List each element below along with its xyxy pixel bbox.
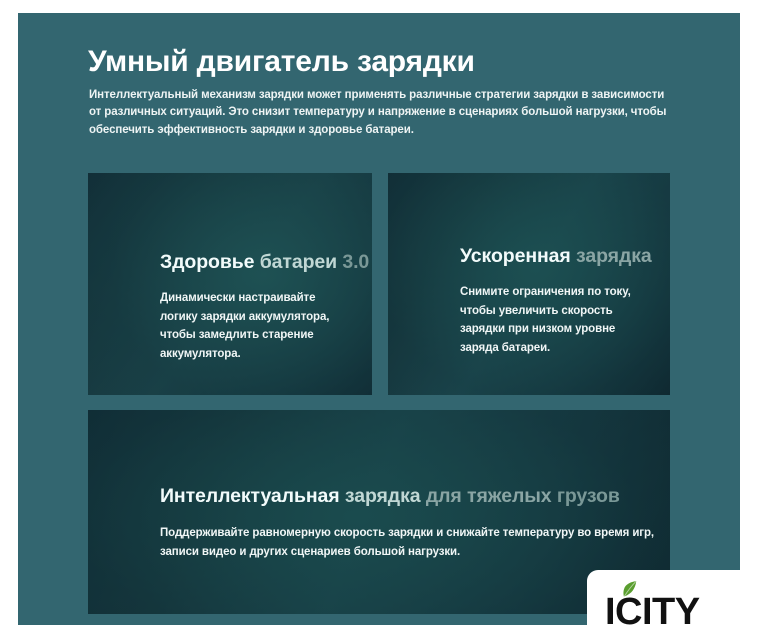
card-title-segment: Здоровье xyxy=(160,251,254,273)
feature-card-fast-charge: Ускоренная зарядка Снимите ограничения п… xyxy=(388,173,670,395)
promo-section: Умный двигатель зарядки Интеллектуальный… xyxy=(18,13,740,625)
card-title-battery-health: Здоровье батареи 3.0 xyxy=(160,251,369,274)
card-title-segment: Ускоренная xyxy=(460,245,571,267)
card-title-segment: зарядка xyxy=(345,485,421,507)
section-description: Интеллектуальный механизм зарядки может … xyxy=(89,87,675,140)
card-title-segment: Интеллектуальная xyxy=(160,485,340,507)
section-inner: Умный двигатель зарядки Интеллектуальный… xyxy=(18,13,740,625)
card-title-fast-charge: Ускоренная зарядка xyxy=(460,245,652,268)
card-title-segment: 3.0 xyxy=(342,251,369,273)
card-body-fast-charge: Снимите ограничения по току, чтобы увели… xyxy=(460,283,632,357)
card-body-heavy-load: Поддерживайте равномерную скорость заряд… xyxy=(160,524,660,561)
feature-card-heavy-load: Интеллектуальная зарядка для тяжелых гру… xyxy=(88,410,670,614)
card-body-battery-health: Динамически настраивайте логику зарядки … xyxy=(160,289,338,363)
card-surface: Ускоренная зарядка Снимите ограничения п… xyxy=(388,173,670,395)
leaf-icon xyxy=(619,579,641,601)
icity-logo: ICITY xyxy=(605,580,745,632)
logo-panel: ICITY xyxy=(587,570,758,640)
card-surface: Интеллектуальная зарядка для тяжелых гру… xyxy=(88,410,670,614)
card-title-segment: для xyxy=(426,485,462,507)
page-title: Умный двигатель зарядки xyxy=(88,42,688,82)
card-title-segment: батареи xyxy=(260,251,337,273)
card-title-segment: тяжелых xyxy=(467,485,552,507)
card-surface: Здоровье батареи 3.0 Динамически настраи… xyxy=(88,173,372,395)
card-title-heavy-load: Интеллектуальная зарядка для тяжелых гру… xyxy=(160,485,620,508)
card-title-segment: зарядка xyxy=(576,245,652,267)
feature-card-battery-health: Здоровье батареи 3.0 Динамически настраи… xyxy=(88,173,372,395)
card-title-segment: грузов xyxy=(557,485,620,507)
